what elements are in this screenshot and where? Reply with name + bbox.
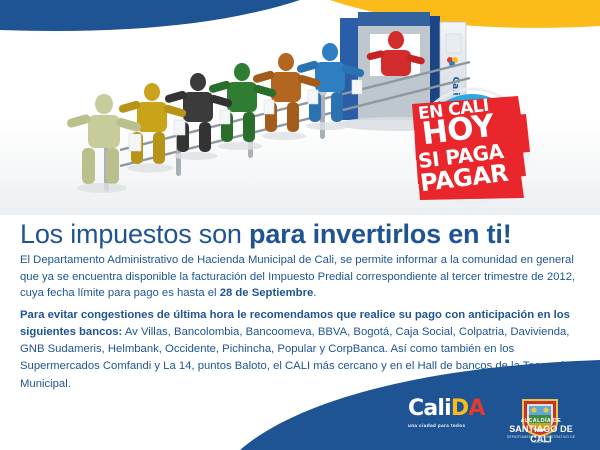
page-title: Los impuestos son para invertirlos en ti… <box>20 220 585 250</box>
calida-wordmark: CaliDA <box>408 398 494 420</box>
alcaldia-line-3: DEPARTAMENTO ADMINISTRATIVO DE HACIENDA <box>505 435 577 444</box>
poster-canvas: Cali <box>0 0 600 450</box>
announcement-paragraph: El Departamento Administrativo de Hacien… <box>20 252 585 302</box>
calida-letter-d: D <box>451 396 468 421</box>
headline-bold: para invertirlos en ti! <box>249 219 511 249</box>
calida-prefix: Cali <box>408 396 451 421</box>
en-cali-hoy-si-paga-pagar-seal: EN CALI HOY SI PAGA PAGAR <box>398 86 546 204</box>
calida-letter-a: A <box>468 396 484 421</box>
announcement-text-end: . <box>313 287 316 299</box>
calida-logo: CaliDA una ciudad para todos <box>408 398 494 432</box>
headline-light: Los impuestos son <box>20 219 249 249</box>
calida-tagline: una ciudad para todos <box>408 423 494 428</box>
payment-deadline: 28 de Septiembre <box>220 287 314 299</box>
